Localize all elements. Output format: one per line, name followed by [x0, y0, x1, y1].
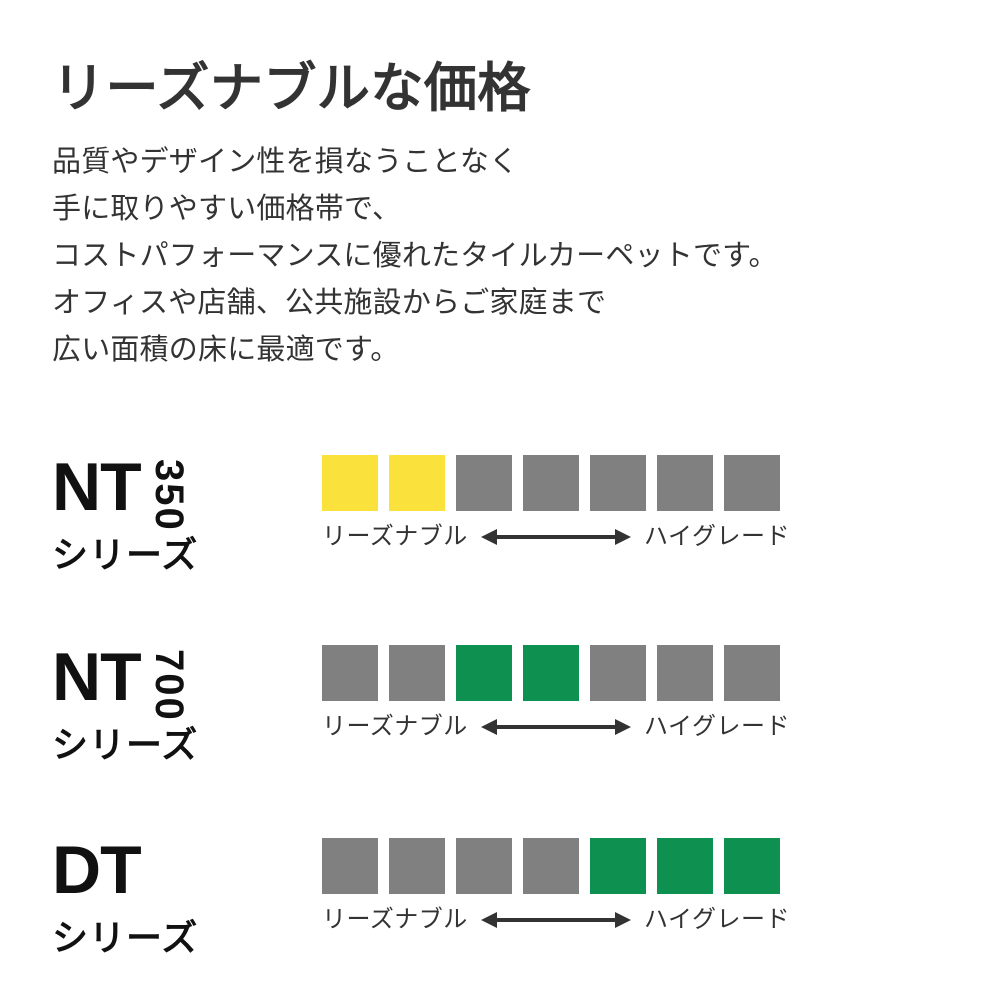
series-code: DT [52, 838, 141, 903]
price-scale-nt700: リーズナブル ハイグレード [322, 645, 802, 739]
scale-right-label: ハイグレード [644, 908, 790, 932]
series-number: 700 [149, 649, 189, 722]
series-row-dt: DT シリーズ リーズナブル [0, 838, 1000, 998]
series-name-line: NT 350 [52, 455, 213, 527]
swatch-strip [322, 645, 802, 701]
series-name-line: DT [52, 838, 141, 910]
swatch [389, 455, 445, 511]
double-arrow-horizontal-icon [468, 718, 644, 736]
page-title: リーズナブルな価格 [52, 60, 952, 117]
intro-block: リーズナブルな価格 品質やデザイン性を損なうことなく 手に取りやすい価格帯で、 … [52, 60, 952, 374]
scale-left-label: リーズナブル [322, 525, 468, 549]
scale-right-label: ハイグレード [644, 715, 790, 739]
swatch-strip [322, 455, 802, 511]
swatch [523, 838, 579, 894]
swatch [657, 455, 713, 511]
swatch [456, 838, 512, 894]
swatch [456, 645, 512, 701]
intro-line: オフィスや店舗、公共施設からご家庭まで [52, 280, 952, 327]
swatch [322, 838, 378, 894]
swatch [657, 645, 713, 701]
series-row-nt700: NT 700 シリーズ リーズナブル [0, 645, 1000, 805]
intro-line: 手に取りやすい価格帯で、 [52, 186, 952, 233]
swatch [322, 645, 378, 701]
swatch [590, 838, 646, 894]
series-label-nt700: NT 700 シリーズ [52, 645, 292, 780]
scale-left-label: リーズナブル [322, 908, 468, 932]
double-arrow-horizontal-icon [468, 911, 644, 929]
swatch [322, 455, 378, 511]
swatch [590, 455, 646, 511]
intro-line: コストパフォーマンスに優れたタイルカーペットです。 [52, 233, 952, 280]
scale-caption: リーズナブル ハイグレード [322, 715, 790, 739]
series-number: 350 [149, 459, 189, 532]
series-suffix: シリーズ [52, 920, 198, 956]
price-scale-nt350: リーズナブル ハイグレード [322, 455, 802, 549]
series-name-line: NT 700 [52, 645, 213, 717]
intro-line: 広い面積の床に最適です。 [52, 327, 952, 374]
swatch [456, 455, 512, 511]
scale-left-label: リーズナブル [322, 715, 468, 739]
scale-caption: リーズナブル ハイグレード [322, 525, 790, 549]
price-positioning-infographic: リーズナブルな価格 品質やデザイン性を損なうことなく 手に取りやすい価格帯で、 … [0, 0, 1000, 1000]
swatch [724, 455, 780, 511]
swatch-strip [322, 838, 802, 894]
series-row-nt350: NT 350 シリーズ リーズナブル [0, 455, 1000, 615]
intro-body: 品質やデザイン性を損なうことなく 手に取りやすい価格帯で、 コストパフォーマンス… [52, 139, 952, 374]
swatch [724, 838, 780, 894]
swatch [724, 645, 780, 701]
scale-right-label: ハイグレード [644, 525, 790, 549]
swatch [389, 645, 445, 701]
series-suffix: シリーズ [52, 537, 198, 573]
price-scale-dt: リーズナブル ハイグレード [322, 838, 802, 932]
series-label-dt: DT シリーズ [52, 838, 292, 973]
swatch [389, 838, 445, 894]
intro-line: 品質やデザイン性を損なうことなく [52, 139, 952, 186]
swatch [657, 838, 713, 894]
scale-caption: リーズナブル ハイグレード [322, 908, 790, 932]
series-suffix: シリーズ [52, 727, 198, 763]
swatch [523, 645, 579, 701]
series-code: NT [52, 455, 141, 520]
series-label-nt350: NT 350 シリーズ [52, 455, 292, 590]
series-code: NT [52, 645, 141, 710]
double-arrow-horizontal-icon [468, 528, 644, 546]
swatch [590, 645, 646, 701]
swatch [523, 455, 579, 511]
